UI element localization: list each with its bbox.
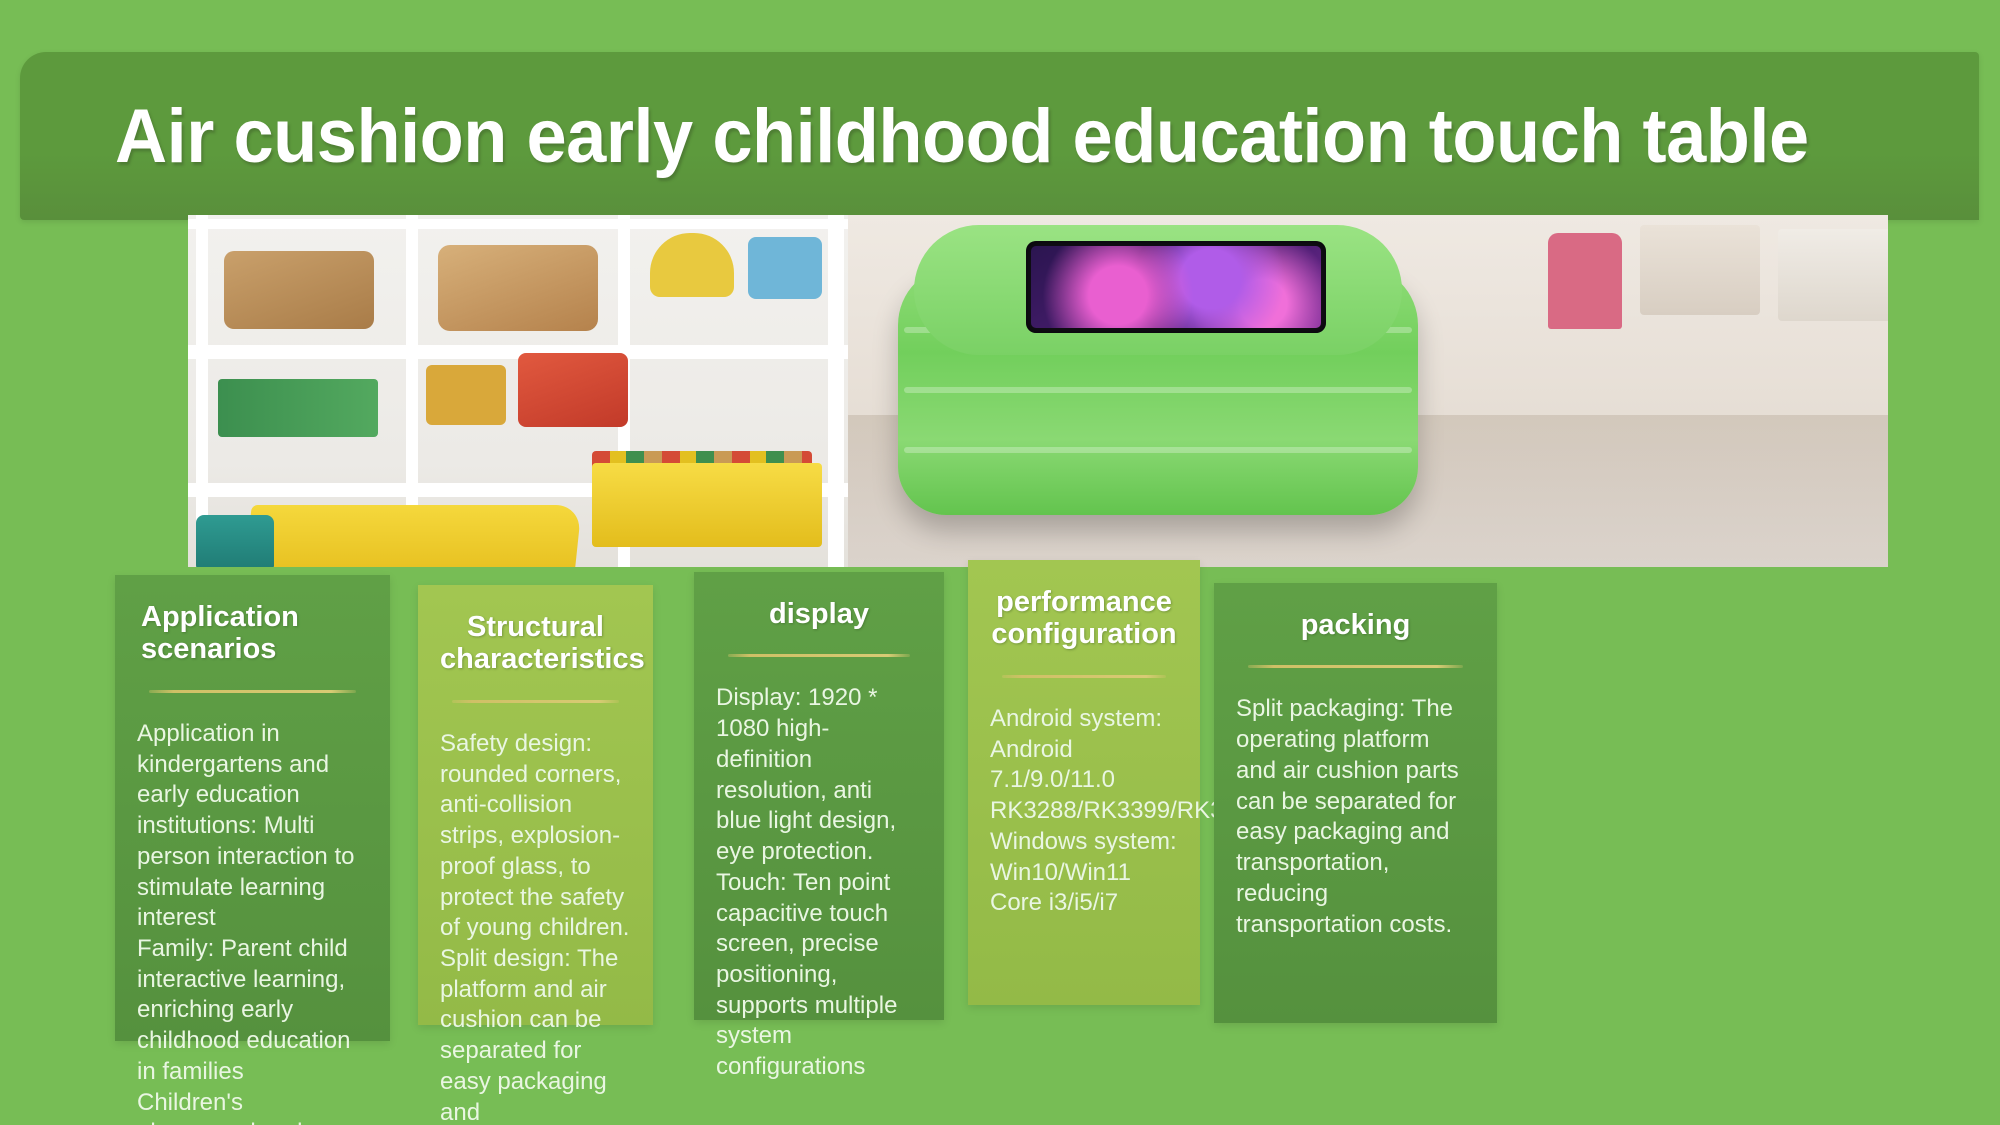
shelf-toy — [426, 365, 506, 425]
card-body: Android system: Android 7.1/9.0/11.0 RK3… — [990, 704, 1178, 919]
shelf-toy — [650, 233, 734, 297]
card-body: Safety design: rounded corners, anti-col… — [440, 729, 631, 1125]
feature-card-packing: packing Split packaging: The operating p… — [1214, 583, 1497, 1023]
card-divider — [1002, 675, 1166, 678]
title-banner: Air cushion early childhood education to… — [20, 52, 1979, 220]
air-cushion-touch-table — [898, 225, 1418, 545]
room-object — [1548, 233, 1622, 329]
room-object — [1778, 229, 1888, 321]
shelf-toy — [218, 379, 378, 437]
room-object — [1640, 225, 1760, 315]
card-title: Structural characteristics — [440, 611, 631, 676]
shelf-toy — [518, 353, 628, 427]
cushion-ridge — [904, 387, 1412, 393]
card-divider — [149, 690, 356, 693]
feature-card-display: display Display: 1920 * 1080 high-defini… — [694, 572, 944, 1020]
toy-shelf — [188, 215, 848, 567]
card-divider — [1248, 665, 1463, 668]
page-title: Air cushion early childhood education to… — [115, 93, 1809, 180]
card-title: performance configuration — [990, 586, 1178, 651]
storage-bin — [592, 463, 822, 547]
feature-card-structural-characteristics: Structural characteristics Safety design… — [418, 585, 653, 1025]
feature-card-performance-configuration: performance configuration Android system… — [968, 560, 1200, 1005]
feature-cards: Application scenarios Application in kin… — [0, 575, 2000, 1075]
table-top-frame — [914, 225, 1402, 355]
card-body: Split packaging: The operating platform … — [1236, 694, 1475, 940]
card-body: Display: 1920 * 1080 high-definition res… — [716, 683, 922, 1082]
storage-bin — [196, 515, 274, 567]
storage-bin — [244, 505, 582, 567]
cushion-ridge — [904, 447, 1412, 453]
card-body: Application in kindergartens and early e… — [137, 719, 368, 1125]
card-title: packing — [1236, 609, 1475, 641]
shelf-toy — [224, 251, 374, 329]
product-photo — [188, 215, 1888, 567]
card-divider — [728, 654, 910, 657]
card-divider — [452, 700, 619, 703]
shelf-toy — [748, 237, 822, 299]
card-title: Application scenarios — [137, 601, 368, 666]
touch-screen-display — [1026, 241, 1326, 333]
shelf-toy — [438, 245, 598, 331]
feature-card-application-scenarios: Application scenarios Application in kin… — [115, 575, 390, 1041]
card-title: display — [716, 598, 922, 630]
